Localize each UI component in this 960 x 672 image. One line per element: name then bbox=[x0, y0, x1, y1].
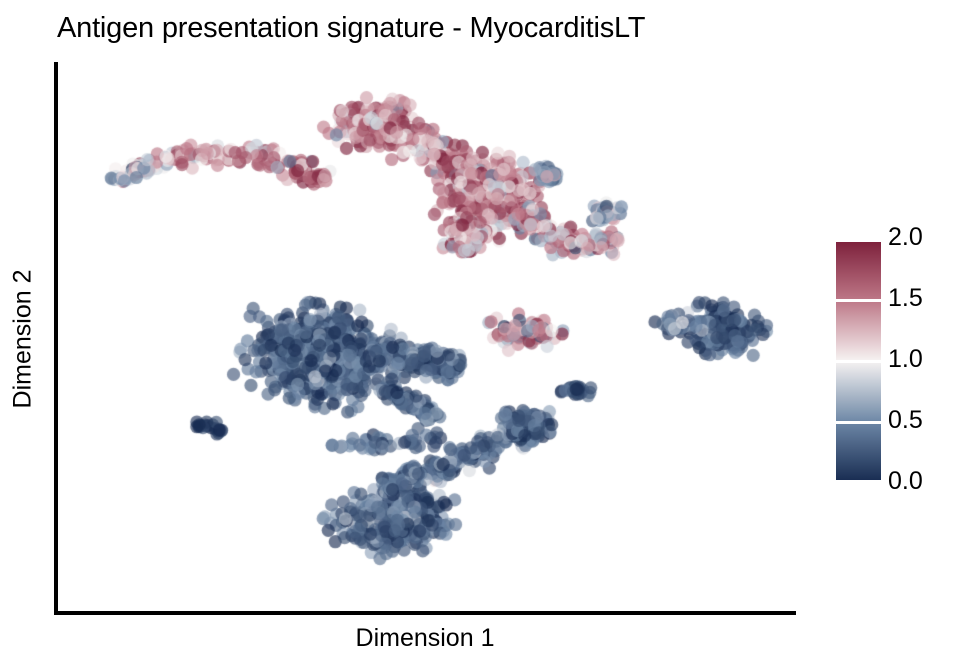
x-axis-label: Dimension 1 bbox=[54, 624, 796, 653]
colorbar-label-0-0: 0.0 bbox=[888, 469, 923, 494]
plot-panel bbox=[58, 62, 796, 611]
y-axis-label: Dimension 2 bbox=[9, 269, 38, 408]
colorbar-label-1-0: 1.0 bbox=[888, 347, 923, 372]
colorbar-legend: 2.01.51.00.50.0 bbox=[836, 236, 956, 488]
colorbar-gradient bbox=[836, 239, 881, 483]
scatter-plot-figure: Antigen presentation signature - Myocard… bbox=[0, 0, 960, 672]
colorbar-tick-labels: 2.01.51.00.50.0 bbox=[888, 236, 956, 486]
page-title: Antigen presentation signature - Myocard… bbox=[57, 8, 797, 48]
scatter-points-canvas bbox=[58, 62, 796, 611]
x-axis-line bbox=[54, 611, 796, 615]
colorbar-label-1-5: 1.5 bbox=[888, 286, 923, 311]
colorbar-label-2-0: 2.0 bbox=[888, 225, 923, 250]
y-axis-label-wrapper: Dimension 2 bbox=[0, 62, 46, 615]
y-axis-line bbox=[54, 62, 58, 615]
colorbar-label-0-5: 0.5 bbox=[888, 408, 923, 433]
